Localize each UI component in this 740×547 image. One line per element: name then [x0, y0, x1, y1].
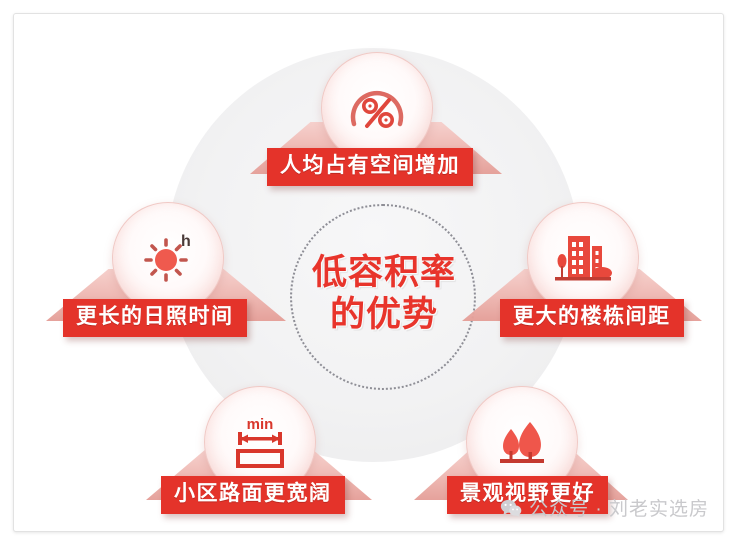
node-label-top[interactable]: 人均占有空间增加: [267, 148, 473, 186]
wechat-icon: [500, 499, 522, 517]
watermark: 公众号 · 刘老实选房: [500, 494, 709, 521]
sun-hours-icon: h: [136, 228, 200, 288]
icon-bubble-left[interactable]: h: [112, 202, 224, 314]
center-title: 低容积率 的优势: [284, 252, 484, 336]
node-label-right[interactable]: 更大的楼栋间距: [500, 299, 684, 337]
svg-text:min: min: [247, 416, 274, 433]
infographic-stage: 低容积率 的优势 人均占有空间增加: [0, 0, 740, 547]
node-label-left[interactable]: 更长的日照时间: [63, 299, 247, 337]
node-label-bottom-left[interactable]: 小区路面更宽阔: [161, 476, 345, 514]
infographic-card: 低容积率 的优势 人均占有空间增加: [13, 13, 724, 532]
icon-bubble-right[interactable]: [527, 202, 639, 314]
svg-text:h: h: [181, 233, 191, 250]
trees-icon: [490, 413, 554, 471]
watermark-text: 公众号 · 刘老实选房: [529, 494, 709, 521]
road-width-min-icon: min: [227, 412, 293, 472]
buildings-icon: [551, 228, 615, 288]
percent-gauge-icon: [346, 80, 408, 136]
